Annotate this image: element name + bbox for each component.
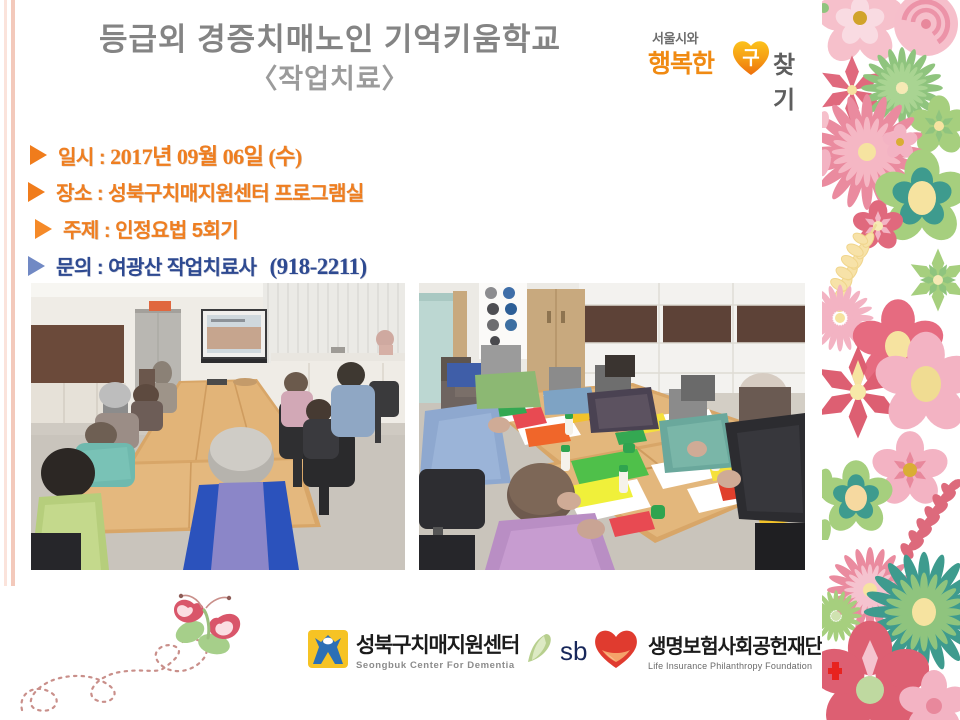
footer-logo-bar: 성북구치매지원센터 Seongbuk Center For Dementia s… [300, 624, 820, 686]
heart-hands-icon [592, 628, 640, 670]
contact-phone: (918-2211) [269, 254, 366, 279]
bullet-row-date: 일시 : 2017년 09월 06일 (수) [26, 136, 626, 173]
title-block: 등급외 경증치매노인 기억키움학교 〈작업치료〉 [0, 22, 660, 96]
bullet-row-topic: 주제 : 인정요법 5회기 [26, 210, 626, 247]
seongbuk-logo-icon [308, 630, 348, 668]
life-foundation-text: 생명보험사회공헌재단 Life Insurance Philanthropy F… [648, 630, 822, 671]
seoul-logo-main-text: 행복한 [648, 44, 714, 80]
triangle-right-icon [35, 219, 52, 239]
triangle-right-icon [28, 256, 45, 276]
bullet-topic-text: 주제 : 인정요법 5회기 [63, 214, 238, 243]
life-name-kr: 생명보험사회공헌재단 [648, 630, 822, 659]
seongbuk-name-kr: 성북구치매지원센터 [356, 629, 519, 659]
page-subtitle: 〈작업치료〉 [0, 63, 660, 97]
photo-craft [419, 283, 805, 570]
slide-canvas: 등급외 경증치매노인 기억키움학교 〈작업치료〉 서울시와 행복한 구 찾기 일… [0, 0, 960, 720]
life-name-en: Life Insurance Philanthropy Foundation [648, 661, 822, 671]
svg-text:sb: sb [560, 636, 587, 666]
seongbuk-name-en: Seongbuk Center For Dementia [356, 660, 519, 671]
bullet-contact-text: 문의 : 여광산 작업치료사 (918-2211) [56, 251, 367, 280]
seongbuk-logo-text: 성북구치매지원센터 Seongbuk Center For Dementia [356, 629, 519, 671]
page-title: 등급외 경증치매노인 기억키움학교 [0, 22, 660, 59]
svg-text:구: 구 [742, 48, 759, 69]
triangle-right-icon [28, 182, 45, 202]
floral-border-pattern [822, 0, 960, 720]
bullet-row-contact: 문의 : 여광산 작업치료사 (918-2211) [26, 247, 626, 284]
bullet-row-location: 장소 : 성북구치매지원센터 프로그램실 [26, 173, 626, 210]
seoul-happy-logo: 서울시와 행복한 구 찾기 [648, 28, 808, 86]
bullet-location-text: 장소 : 성북구치매지원센터 프로그램실 [56, 177, 364, 206]
info-bullet-list: 일시 : 2017년 09월 06일 (수) 장소 : 성북구치매지원센터 프로… [26, 136, 626, 284]
butterfly-icon [8, 588, 308, 716]
seoul-logo-tail-text: 찾기 [773, 45, 808, 115]
bullet-date-text: 일시 : 2017년 09월 06일 (수) [58, 139, 302, 171]
triangle-right-icon [30, 145, 47, 165]
photo-lecture [31, 283, 405, 570]
orange-heart-icon: 구 [730, 37, 772, 77]
